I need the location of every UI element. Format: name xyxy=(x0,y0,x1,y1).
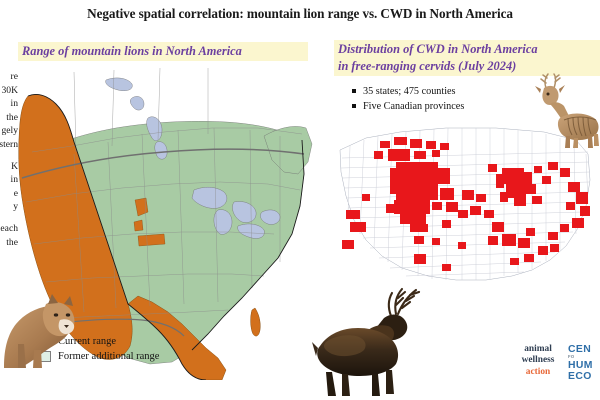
left-panel-header: Range of mountain lions in North America xyxy=(18,42,308,61)
animal-wellness-action-logo: animal wellness action xyxy=(515,344,561,378)
bullet-square-icon xyxy=(352,89,356,93)
right-panel-header-line1: Distribution of CWD in North America xyxy=(338,41,596,58)
county-base-mesh xyxy=(340,128,590,280)
mountain-lion-photo xyxy=(2,282,80,368)
logo-line-animal: animal xyxy=(515,344,561,355)
logo-line-hum: HUM xyxy=(568,360,600,371)
slide-root: Negative spatial correlation: mountain l… xyxy=(0,0,600,400)
cwd-bullet-list: 35 states; 475 counties Five Canadian pr… xyxy=(352,84,464,115)
logo-line-action: action xyxy=(515,367,561,378)
center-for-humane-economy-logo: CEN FO HUM ECO xyxy=(568,344,600,383)
logo-line-eco: ECO xyxy=(568,371,600,382)
page-title: Negative spatial correlation: mountain l… xyxy=(0,6,600,22)
cwd-distribution-map xyxy=(336,124,598,292)
bullet-square-icon xyxy=(352,104,356,108)
list-item: 35 states; 475 counties xyxy=(352,84,464,99)
list-item-label: 35 states; 475 counties xyxy=(363,86,456,97)
elk-illustration xyxy=(306,280,428,398)
deer-anatomy-illustration xyxy=(528,72,600,148)
list-item: Five Canadian provinces xyxy=(352,99,464,114)
right-panel-header: Distribution of CWD in North America in … xyxy=(334,40,600,76)
logo-line-wellness: wellness xyxy=(515,355,561,366)
list-item-label: Five Canadian provinces xyxy=(363,101,464,112)
